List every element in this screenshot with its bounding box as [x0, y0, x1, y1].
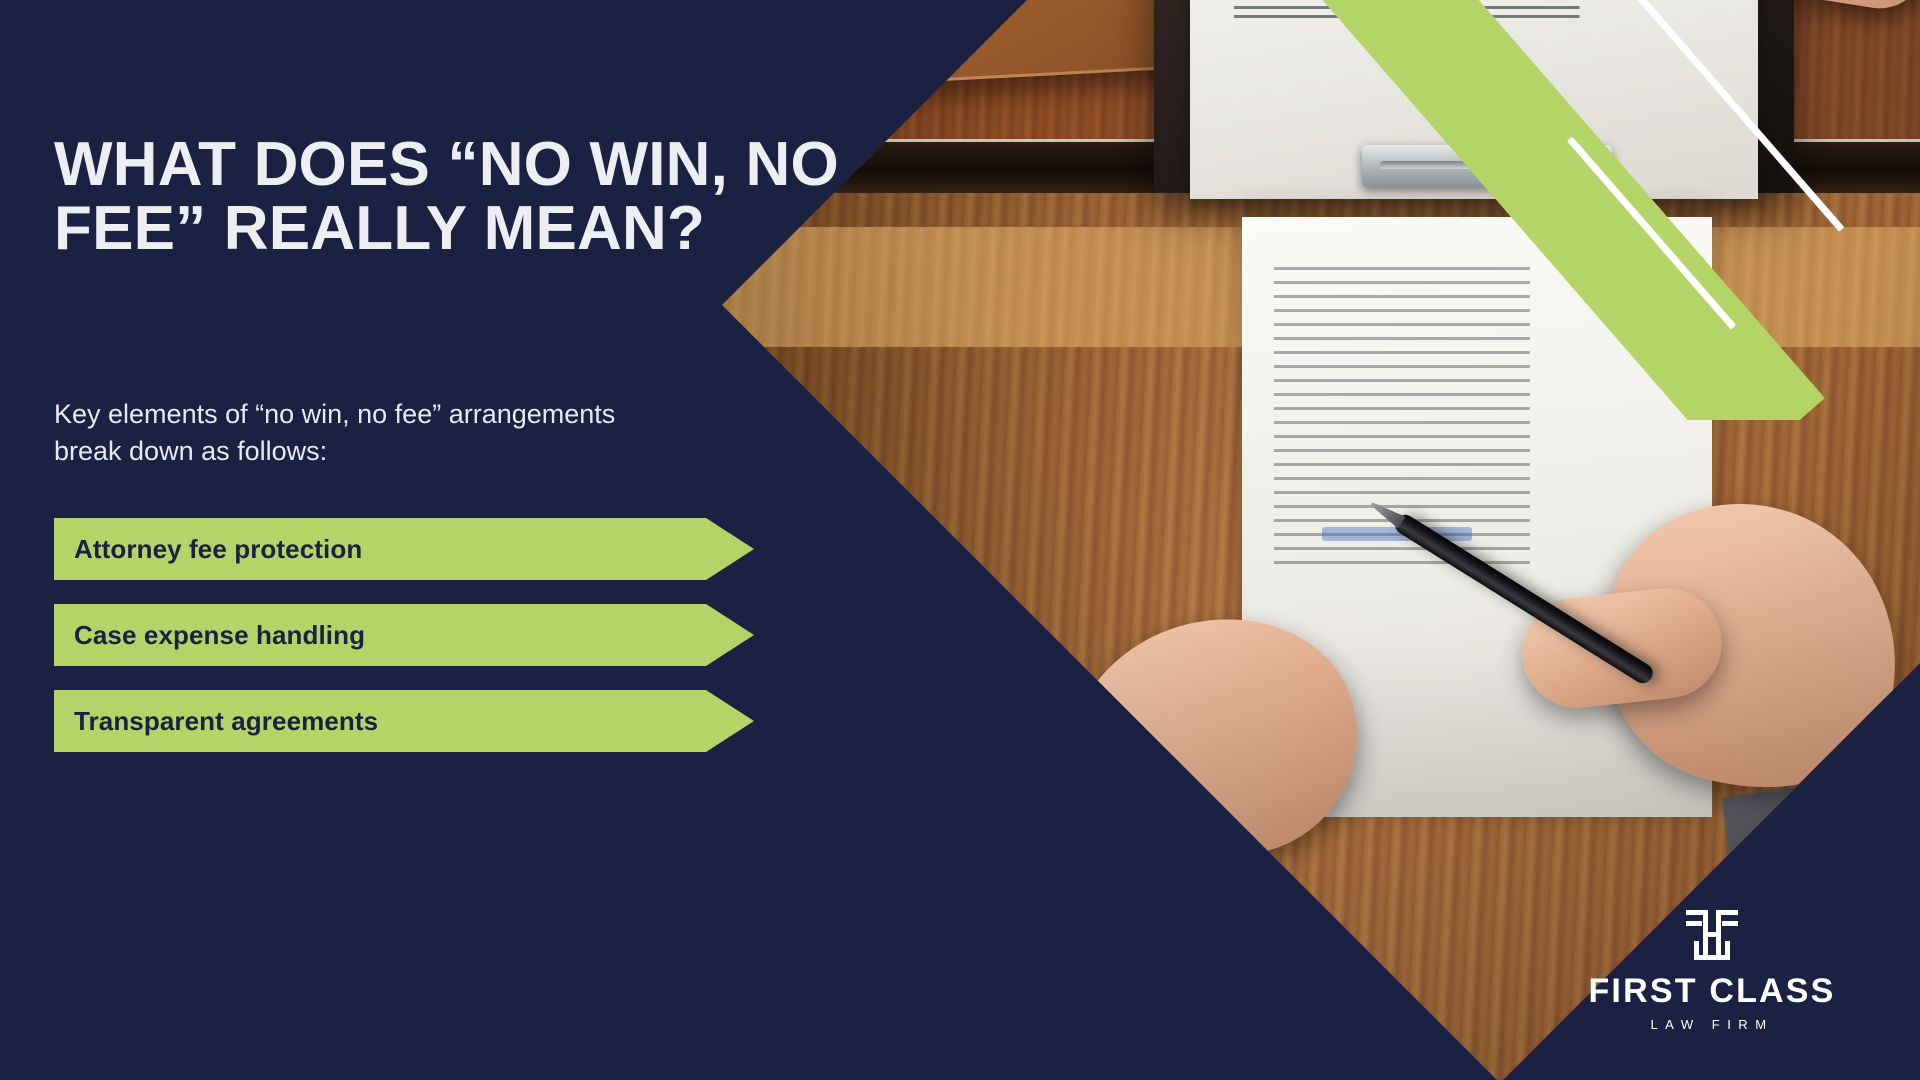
subtitle-text: Key elements of “no win, no fee” arrange…: [54, 396, 674, 469]
list-item-label: Attorney fee protection: [54, 534, 362, 565]
content-column: What does “no win, no fee” really mean? …: [54, 0, 954, 1080]
list-item[interactable]: Case expense handling: [54, 604, 754, 666]
page-title: What does “no win, no fee” really mean?: [54, 133, 894, 262]
slide-canvas: What does “no win, no fee” really mean? …: [0, 0, 1920, 1080]
logo-tagline: LAW FIRM: [1562, 1017, 1862, 1032]
list-item[interactable]: Transparent agreements: [54, 690, 754, 752]
list-item-label: Transparent agreements: [54, 706, 378, 737]
logo-wordmark: FIRST CLASS: [1562, 974, 1862, 1008]
list-item-label: Case expense handling: [54, 620, 365, 651]
key-elements-list: Attorney fee protection Case expense han…: [54, 518, 954, 776]
list-item[interactable]: Attorney fee protection: [54, 518, 754, 580]
brand-logo: FIRST CLASS LAW FIRM: [1562, 908, 1862, 1032]
first-class-monogram-icon: [1684, 908, 1740, 962]
